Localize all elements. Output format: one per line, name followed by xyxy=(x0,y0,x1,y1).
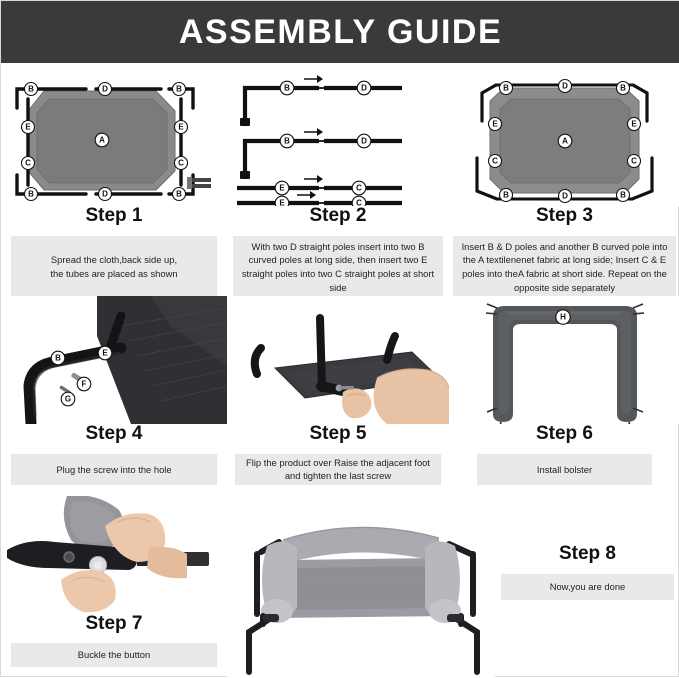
svg-text:C: C xyxy=(356,184,362,193)
step-2-title: Step 2 xyxy=(227,206,449,227)
step-6-photo: H xyxy=(449,296,679,424)
step-3-figure: B D B E E A C C B D B xyxy=(449,63,679,206)
screw-icon xyxy=(187,177,211,189)
step-cell-4: B E F G Step 4 Plug the screw into the h… xyxy=(1,296,227,496)
svg-text:E: E xyxy=(492,120,498,129)
step-4-caption: Plug the screw into the hole xyxy=(11,454,217,485)
svg-text:B: B xyxy=(503,84,509,93)
assembly-guide-page: ASSEMBLY GUIDE xyxy=(0,0,679,677)
svg-text:C: C xyxy=(631,157,637,166)
step-4-photo: B E F G xyxy=(1,296,227,424)
svg-text:A: A xyxy=(562,137,568,146)
svg-text:E: E xyxy=(279,184,285,193)
step-5-title: Step 5 xyxy=(227,424,449,445)
step-3-caption-text: Insert B & D poles and another B curved … xyxy=(459,240,670,295)
step-6-title: Step 6 xyxy=(449,424,679,445)
steps-grid: B D B E E A C C B D B Step 1 Spr xyxy=(1,63,679,678)
svg-text:B: B xyxy=(503,191,509,200)
svg-text:D: D xyxy=(562,82,568,91)
svg-text:D: D xyxy=(562,192,568,201)
step-2-caption: With two D straight poles insert into tw… xyxy=(233,236,443,298)
bolster-left xyxy=(261,541,297,623)
svg-text:H: H xyxy=(560,313,566,322)
svg-text:D: D xyxy=(361,137,367,146)
svg-text:B: B xyxy=(284,84,290,93)
svg-text:B: B xyxy=(55,354,61,363)
step-cell-6: H Step 6 Install bolster xyxy=(449,296,679,496)
step-1-figure: B D B E E A C C B D B xyxy=(1,63,227,206)
step-7-photo xyxy=(1,496,227,614)
step-8-photo xyxy=(227,496,495,678)
step-5-caption: Flip the product over Raise the adjacent… xyxy=(235,454,441,485)
svg-text:C: C xyxy=(25,159,31,168)
svg-text:B: B xyxy=(620,191,626,200)
svg-text:B: B xyxy=(28,190,34,199)
step-cell-8: Step 8 Now,you are done xyxy=(227,496,679,678)
svg-text:D: D xyxy=(102,190,108,199)
step-3-title: Step 3 xyxy=(449,206,679,227)
step-6-caption-text: Install bolster xyxy=(537,463,592,477)
svg-text:C: C xyxy=(356,199,362,207)
page-title: ASSEMBLY GUIDE xyxy=(179,13,502,52)
svg-text:B: B xyxy=(284,137,290,146)
svg-text:G: G xyxy=(65,395,71,404)
svg-text:E: E xyxy=(178,123,184,132)
step-7-title: Step 7 xyxy=(1,614,227,635)
direction-arrow-icon xyxy=(297,75,323,199)
step-8-title: Step 8 xyxy=(495,544,679,565)
svg-text:B: B xyxy=(28,85,34,94)
step-1-diagram: B D B E E A C C B D B xyxy=(1,63,227,206)
step-7-caption-text: Buckle the button xyxy=(78,648,150,662)
step-7-figure xyxy=(1,496,227,614)
step-1-caption: Spread the cloth,back side up, the tubes… xyxy=(11,236,217,298)
step-2-caption-text: With two D straight poles insert into tw… xyxy=(239,240,437,295)
step-2-diagram: B D B D E C E C xyxy=(227,63,449,206)
step-cell-2: B D B D E C E C Step 2 With two D straig… xyxy=(227,63,449,296)
svg-text:E: E xyxy=(279,199,285,207)
step-cell-5: Step 5 Flip the product over Raise the a… xyxy=(227,296,449,496)
svg-text:B: B xyxy=(620,84,626,93)
step-2-figure: B D B D E C E C xyxy=(227,63,449,206)
svg-text:E: E xyxy=(631,120,637,129)
step-cell-1: B D B E E A C C B D B Step 1 Spr xyxy=(1,63,227,296)
step-5-photo xyxy=(227,296,449,424)
svg-text:F: F xyxy=(82,380,87,389)
step-3-diagram: B D B E E A C C B D B xyxy=(449,63,679,206)
svg-text:E: E xyxy=(25,123,31,132)
step-8-text-block: Step 8 Now,you are done xyxy=(495,544,679,600)
svg-text:C: C xyxy=(178,159,184,168)
page-header: ASSEMBLY GUIDE xyxy=(1,1,679,63)
step-5-caption-text: Flip the product over Raise the adjacent… xyxy=(241,456,435,483)
step-6-caption: Install bolster xyxy=(477,454,652,485)
bolster-right xyxy=(425,541,461,623)
step-cell-3: B D B E E A C C B D B Step 3 Ins xyxy=(449,63,679,296)
step-cell-7: Step 7 Buckle the button xyxy=(1,496,227,678)
step-5-figure xyxy=(227,296,449,424)
step-4-figure: B E F G xyxy=(1,296,227,424)
step-3-caption: Insert B & D poles and another B curved … xyxy=(453,236,676,298)
step-8-caption-text: Now,you are done xyxy=(550,580,626,594)
svg-text:C: C xyxy=(492,157,498,166)
step-7-caption: Buckle the button xyxy=(11,643,217,667)
step-8-caption: Now,you are done xyxy=(501,574,674,600)
step-1-title: Step 1 xyxy=(1,206,227,227)
svg-text:D: D xyxy=(102,85,108,94)
step-8-figure xyxy=(227,496,495,678)
svg-text:E: E xyxy=(102,349,108,358)
label-bubbles: H xyxy=(556,310,570,324)
step-1-caption-text: Spread the cloth,back side up, the tubes… xyxy=(50,253,177,280)
step-4-title: Step 4 xyxy=(1,424,227,445)
svg-text:B: B xyxy=(176,190,182,199)
step-6-figure: H xyxy=(449,296,679,424)
step-4-caption-text: Plug the screw into the hole xyxy=(56,463,171,477)
svg-text:A: A xyxy=(99,136,105,145)
svg-text:B: B xyxy=(176,85,182,94)
svg-text:D: D xyxy=(361,84,367,93)
